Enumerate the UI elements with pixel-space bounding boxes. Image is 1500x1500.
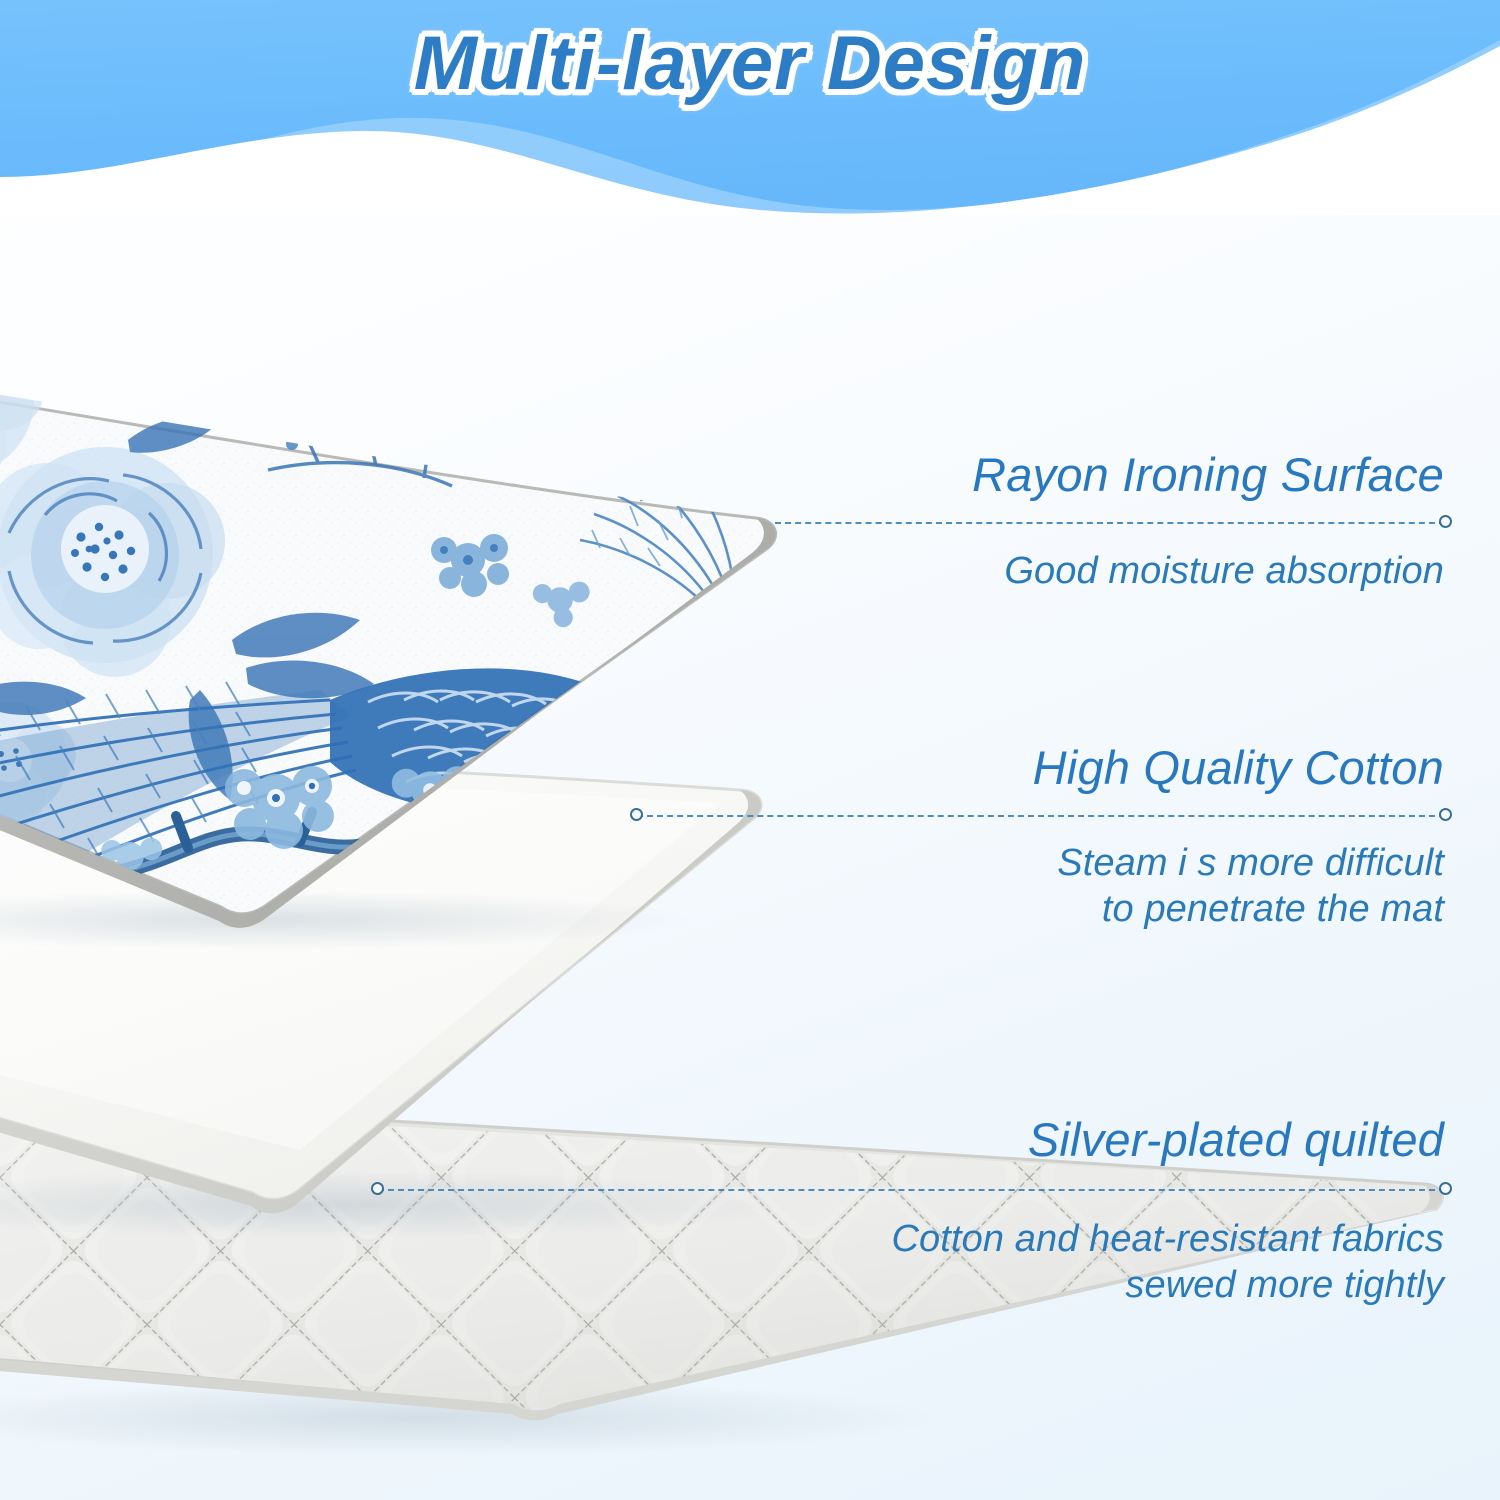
callout-quilted: Silver-plated quilted Cotton and heat-re… <box>0 0 1500 1500</box>
infographic-page: Multi-layer Design <box>0 0 1500 1500</box>
callout-quilted-heading: Silver-plated quilted <box>544 1112 1444 1167</box>
callout-quilted-start-dot <box>371 1182 384 1195</box>
callout-quilted-dashed-line <box>378 1189 1445 1191</box>
callout-quilted-subtext: Cotton and heat-resistant fabrics sewed … <box>544 1216 1444 1309</box>
callout-quilted-end-dot <box>1439 1182 1452 1195</box>
